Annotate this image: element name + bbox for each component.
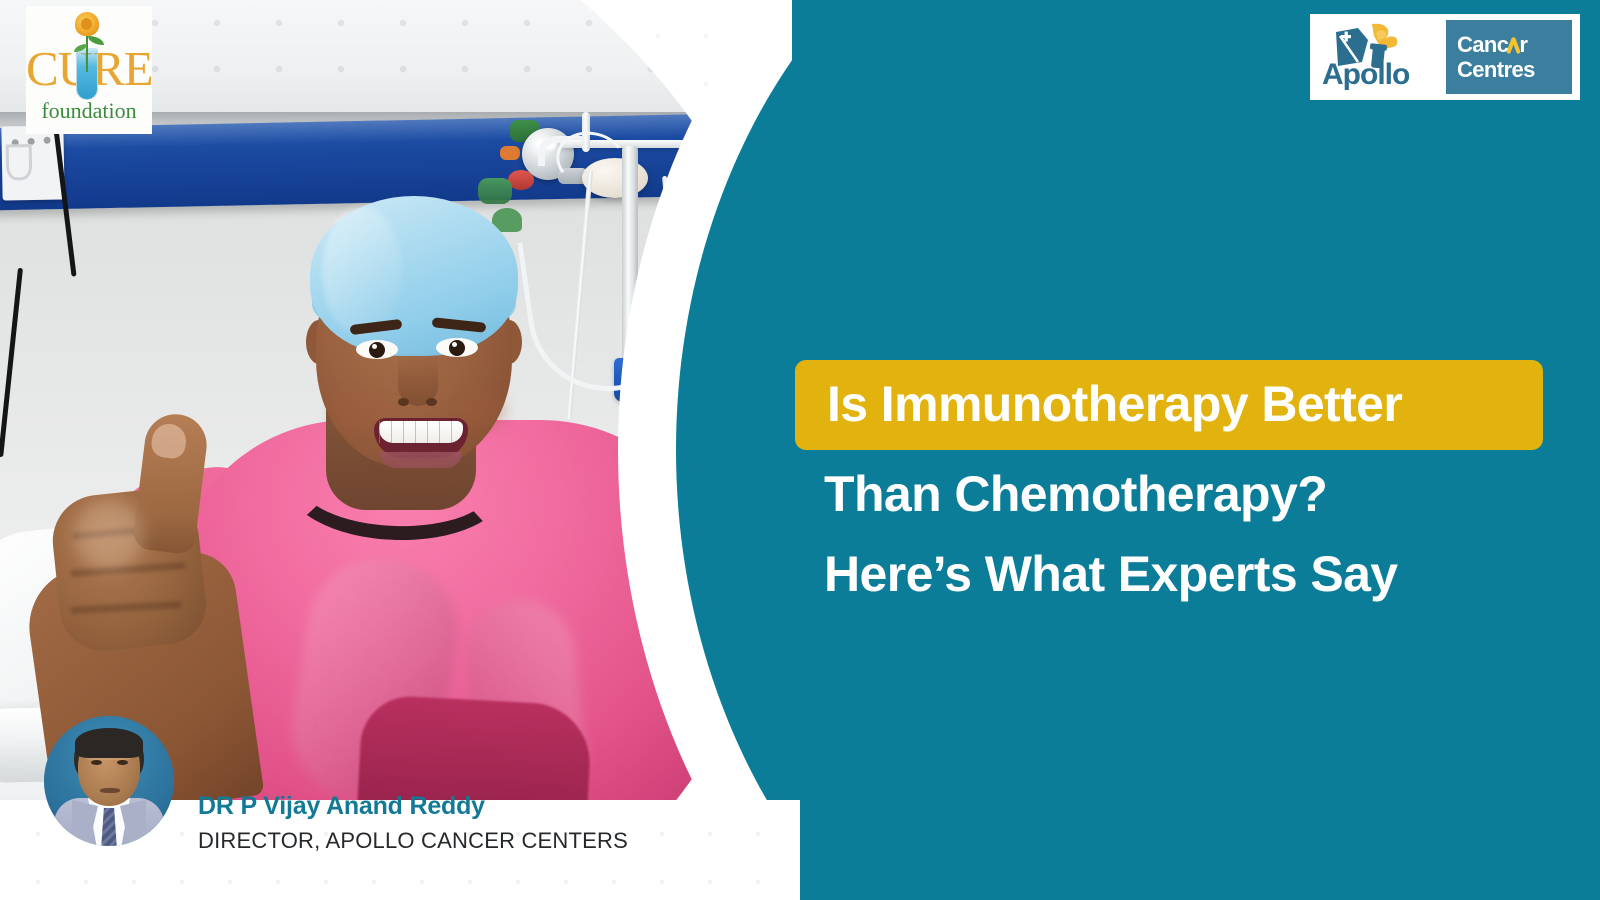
- hand-highlight: [74, 500, 144, 570]
- avatar-eye-left: [91, 760, 102, 765]
- pupil: [449, 340, 465, 356]
- cancer-centres-box: Cancr Centres: [1446, 20, 1572, 94]
- headline-block: Is Immunotherapy Better Than Chemotherap…: [792, 360, 1600, 612]
- teeth-separations: [379, 421, 463, 443]
- avatar-mouth: [100, 788, 120, 793]
- cancer-text-part1: Canc: [1457, 32, 1508, 57]
- cancer-text-part2: r: [1519, 32, 1527, 57]
- speaker-name: DR P Vijay Anand Reddy: [198, 792, 485, 821]
- head-scarf-highlight: [322, 206, 402, 336]
- headline-line-3: Here’s What Experts Say: [792, 536, 1600, 612]
- doctor-avatar: [44, 716, 174, 846]
- eye-right: [436, 338, 478, 357]
- speaker-role: DIRECTOR, APOLLO CANCER CENTERS: [198, 828, 628, 854]
- nostril-right: [426, 398, 437, 406]
- cheek-left: [330, 392, 376, 432]
- headline-line-2: Than Chemotherapy?: [792, 456, 1600, 532]
- chin-shadow: [372, 450, 468, 486]
- cure-foundation-logo[interactable]: CURE foundation: [26, 6, 152, 134]
- headline-line-1-highlighted: Is Immunotherapy Better: [795, 360, 1543, 450]
- nostril-left: [398, 398, 409, 406]
- cancer-line: Cancr: [1457, 32, 1572, 57]
- eye-left: [356, 340, 398, 359]
- apollo-wordmark: Apollo: [1322, 58, 1409, 92]
- pupil: [369, 342, 385, 358]
- apollo-mark: Apollo: [1318, 20, 1440, 94]
- avatar-hair: [75, 728, 143, 758]
- cure-foundation-subtitle: foundation: [26, 98, 152, 124]
- apollo-cancer-centres-logo[interactable]: Apollo Cancr Centres: [1310, 14, 1580, 100]
- poster-canvas: Is Immunotherapy Better Than Chemotherap…: [0, 0, 1600, 900]
- avatar-eye-right: [117, 760, 128, 765]
- centres-line: Centres: [1457, 57, 1572, 82]
- awareness-ribbon-icon: [1507, 37, 1520, 54]
- rose-icon: [75, 12, 99, 36]
- gown-shadow: [357, 694, 592, 800]
